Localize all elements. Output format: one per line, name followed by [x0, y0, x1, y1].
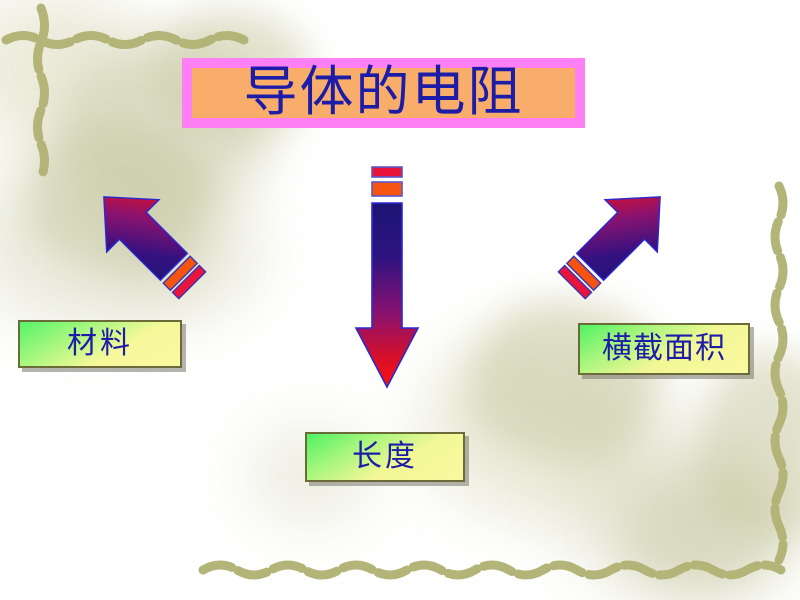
watermark-leaf [30, 120, 210, 270]
watermark-blob [620, 470, 790, 600]
watermark-blob [110, 200, 260, 310]
watermark-blob [0, 150, 210, 330]
arrow-center [350, 165, 430, 395]
factor-box-cross-section-area: 横截面积 [578, 323, 750, 375]
slide-canvas: 导体的电阻 [0, 0, 800, 600]
slide-title-box: 导体的电阻 [182, 58, 585, 128]
factor-label-cross-section-area: 横截面积 [602, 334, 726, 364]
page-title: 导体的电阻 [244, 65, 524, 119]
arrow-right [540, 168, 695, 313]
factor-label-material: 材料 [67, 329, 133, 359]
factor-label-length: 长度 [352, 442, 418, 472]
factor-box-material: 材料 [18, 320, 182, 368]
watermark-blob [0, 0, 150, 150]
factor-box-length: 长度 [305, 432, 465, 482]
arrow-left [72, 168, 222, 313]
watermark-leaf [700, 350, 800, 540]
watermark-blob [560, 420, 780, 590]
